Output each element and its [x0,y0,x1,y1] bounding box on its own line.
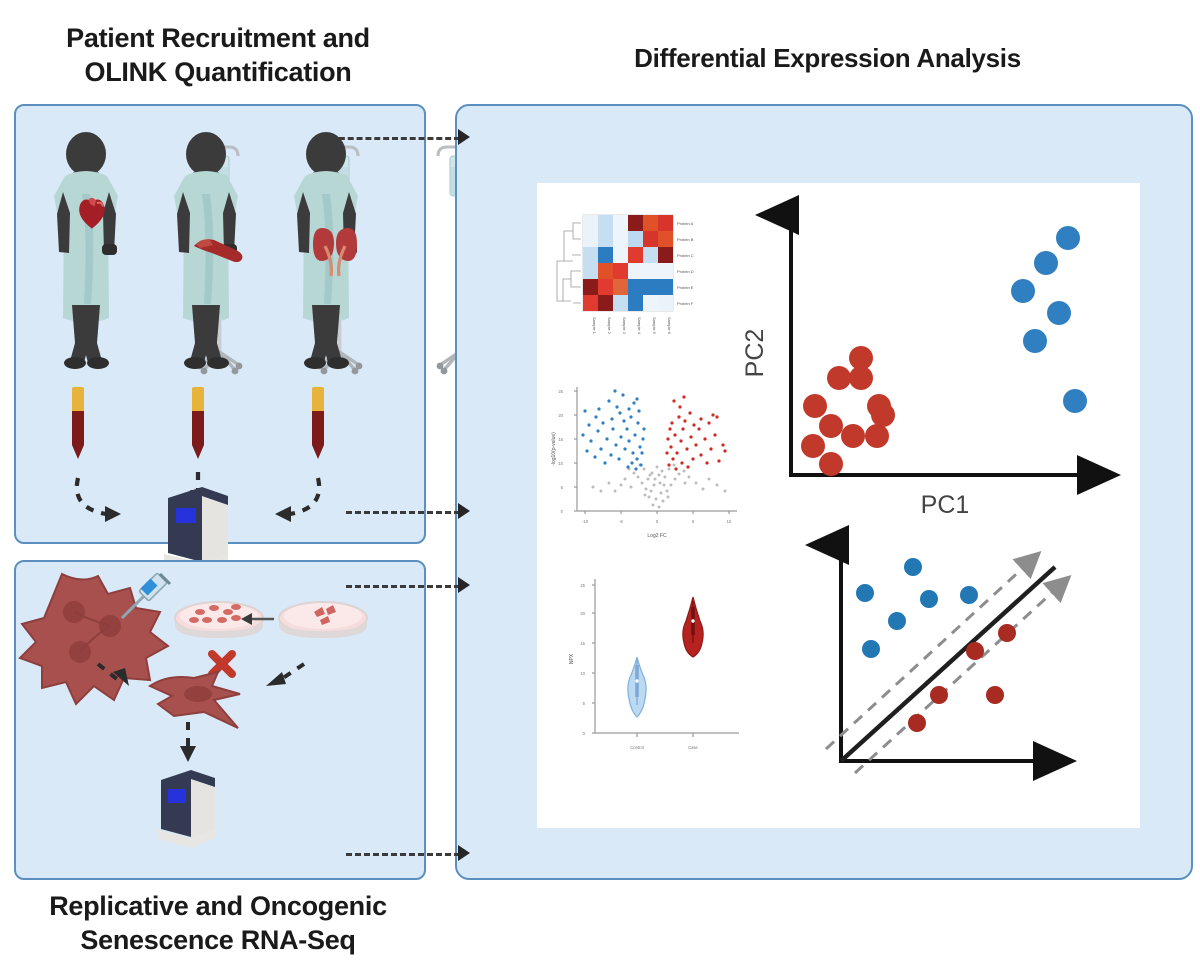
patients-illustration [16,106,424,542]
heatmap-row-label: Protein A [677,221,694,226]
connector-senescence-to-dea-top [346,585,460,588]
svm-margin-upper [826,555,1037,749]
volcano-xtick: 10 [727,519,732,524]
violin-xtick-case: Case [688,745,698,750]
volcano-ytick: 20 [558,413,563,418]
violin-yticks: 0 5 10 15 20 25 [580,583,585,736]
panel-patient-recruitment [14,104,426,544]
heatmap-col-label: Sample 5 [652,317,657,335]
volcano-xtick: -5 [619,519,623,524]
volcano-xtick: 5 [692,519,695,524]
page-title-differential-expression: Differential Expression Analysis [455,42,1200,75]
svm-margin-lower [855,579,1067,773]
volcano-points-nonsig [592,464,727,509]
volcano-ytick: 5 [561,485,564,490]
volcano-ytick: 15 [558,437,563,442]
page-title-patient-recruitment: Patient Recruitment and OLINK Quantifica… [8,22,428,90]
heatmap-row-label: Protein C [677,253,694,258]
violin-ytick: 25 [580,583,585,588]
connector-arrowhead-1 [458,129,470,145]
heatmap-dendrogram [557,223,581,303]
pca-xlabel: PC1 [921,491,970,519]
heatmap-grid [583,215,673,311]
title-line-2: OLINK Quantification [8,56,428,90]
flow-arrowhead-left [105,506,121,522]
violin-xtick-control: Control [630,745,644,750]
pca-ylabel: PC2 [741,329,769,378]
volcano-ytick: 25 [558,389,563,394]
panel-differential-expression: Protein A Protein B Protein C Protein D … [455,104,1193,880]
connector-arrowhead-4 [458,845,470,861]
heatmap-col-label: Sample 2 [607,317,612,335]
volcano-ytick: 10 [558,461,563,466]
volcano-xtick: -10 [582,519,589,524]
connector-senescence-to-dea-bottom [346,853,460,856]
sequencer-arrowhead [180,746,196,762]
violin-ytick: 5 [583,701,586,706]
volcano-xtick: 0 [656,519,659,524]
volcano-points-up [665,395,726,470]
title-line-2: Senescence RNA-Seq [8,924,428,958]
page-title-senescence-rnaseq: Replicative and Oncogenic Senescence RNA… [8,890,428,958]
heatmap-row-label: Protein F [677,301,694,306]
violin-ytick: 15 [580,641,585,646]
volcano-axes [574,387,737,514]
heatmap-col-label: Sample 1 [592,317,597,335]
volcano-xticks: -10 -5 0 5 10 [582,519,732,524]
svm-points-control [856,558,978,658]
flow-arrowhead-right [275,506,291,522]
replicative-arrowhead [266,672,286,686]
title-line-1: Patient Recruitment and [8,22,428,56]
dea-figure-canvas: Protein A Protein B Protein C Protein D … [537,183,1140,828]
violin-control [628,657,646,717]
heatmap-col-label: Sample 6 [667,317,672,335]
violin-axes [592,579,739,737]
violin-ytick: 20 [580,611,585,616]
petri-dish-early-icon [279,602,367,638]
panel-senescence-rnaseq [14,560,426,880]
blood-tube-2 [192,387,204,459]
volcano-xlabel: Log2 FC [647,533,667,539]
pca-points-case [801,346,895,476]
connector-arrowhead-2 [458,503,470,519]
connector-arrowhead-3 [458,577,470,593]
chart-violin: 0 5 10 15 20 25 NPX Control Case [553,573,768,783]
violin-ytick: 10 [580,671,585,676]
chart-pca: PC2 PC1 [765,193,1140,523]
senescence-illustration [16,562,424,878]
volcano-yticks: 0 5 10 15 20 25 [558,389,563,514]
violin-case [683,597,703,657]
rnaseq-sequencer-icon [158,770,215,848]
flow-arrow-left [77,478,106,514]
senescent-cell-icon [150,672,240,728]
heatmap-row-label: Protein E [677,285,694,290]
blood-tube-1 [72,387,84,459]
heatmap-row-label: Protein B [677,237,694,242]
heatmap-col-label: Sample 3 [622,317,627,335]
growth-arrest-x-icon [212,654,232,674]
violin-ylabel: NPX [569,653,575,664]
volcano-ytick: 0 [561,509,564,514]
flow-arrow-right [290,478,319,514]
chart-heatmap: Protein A Protein B Protein C Protein D … [545,201,745,366]
connector-patients-to-dea-bottom [346,511,460,514]
chart-svm [821,543,1131,808]
heatmap-row-label: Protein D [677,269,694,274]
volcano-points-down [581,389,645,470]
blood-tube-3 [312,387,324,459]
violin-ytick: 0 [583,731,586,736]
chart-volcano: 0 5 10 15 20 25 -10 -5 0 5 10 Log2 FC -l… [541,379,756,559]
heatmap-col-labels: Sample 1 Sample 2 Sample 3 Sample 4 Samp… [592,317,672,335]
heatmap-col-label: Sample 4 [637,317,642,335]
pca-points-control [1011,226,1087,413]
connector-patients-to-dea-top [330,137,460,140]
heatmap-row-labels: Protein A Protein B Protein C Protein D … [677,221,694,306]
volcano-ylabel: -log10(p-value) [551,432,557,466]
title-line-1: Replicative and Oncogenic [8,890,428,924]
